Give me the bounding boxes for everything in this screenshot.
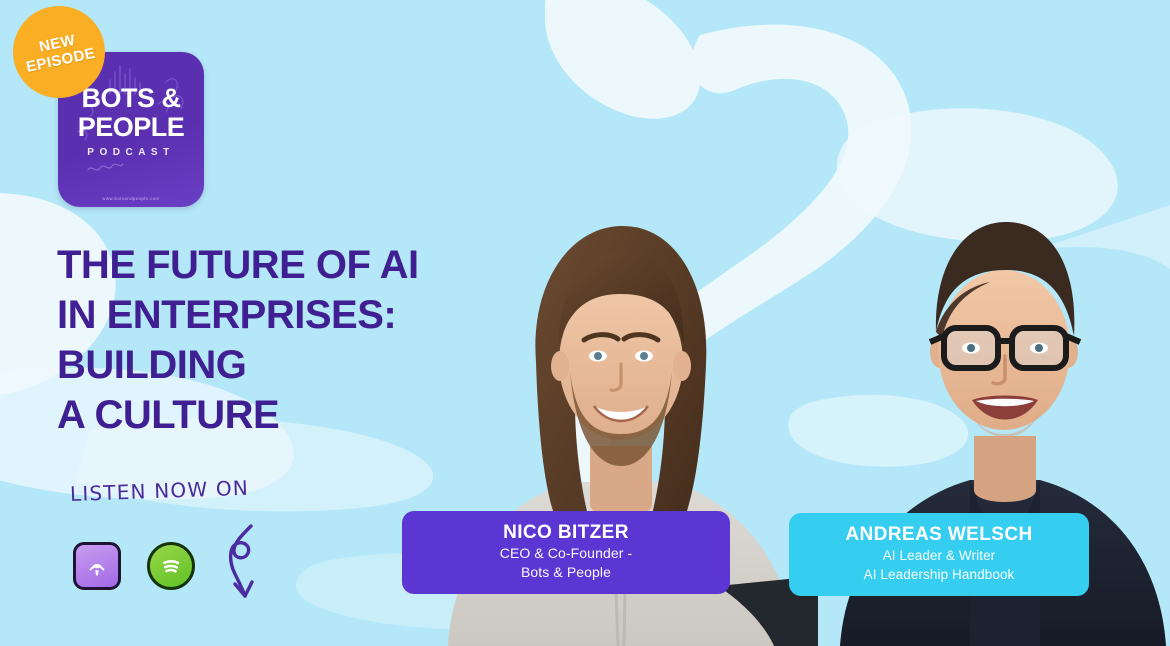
guest-name-andreas: ANDREAS WELSCH	[803, 523, 1075, 546]
title-line-2: IN ENTERPRISES:	[57, 290, 487, 340]
new-episode-badge: NEW EPISODE	[13, 6, 105, 98]
guest-role-nico-line2: Bots & People	[416, 563, 716, 582]
cover-line-3: PODCAST	[58, 147, 204, 158]
guest-role-andreas-line1: AI Leader & Writer	[803, 546, 1075, 565]
platform-icons-row	[73, 522, 271, 609]
podcast-episode-cover: NEW EPISODE BOTS & PEOPLE	[0, 0, 1170, 646]
apple-podcasts-icon[interactable]	[73, 542, 121, 590]
episode-title: THE FUTURE OF AI IN ENTERPRISES: BUILDIN…	[57, 240, 487, 440]
guest-role-andreas-line2: AI Leadership Handbook	[803, 565, 1075, 584]
apple-podcasts-glyph	[84, 553, 110, 579]
guest-role-nico-line1: CEO & Co-Founder -	[416, 544, 716, 563]
title-line-1: THE FUTURE OF AI	[57, 240, 487, 290]
name-tag-andreas: ANDREAS WELSCH AI Leader & Writer AI Lea…	[789, 513, 1089, 596]
cover-website-url: www.botsandpeople.com	[58, 196, 204, 201]
curly-arrow-doodle-icon	[223, 522, 271, 609]
spotify-icon[interactable]	[147, 542, 195, 590]
new-episode-badge-text: NEW EPISODE	[21, 28, 97, 76]
guest-name-nico: NICO BITZER	[416, 521, 716, 544]
cover-wordmark: BOTS & PEOPLE PODCAST	[58, 84, 204, 158]
cover-line-2: PEOPLE	[58, 112, 204, 142]
title-line-4: A CULTURE	[57, 390, 487, 440]
name-tag-nico: NICO BITZER CEO & Co-Founder - Bots & Pe…	[402, 511, 730, 594]
spotify-glyph	[158, 553, 184, 579]
title-line-3: BUILDING	[57, 340, 487, 390]
listen-now-section: LISTEN NOW ON	[70, 482, 271, 609]
